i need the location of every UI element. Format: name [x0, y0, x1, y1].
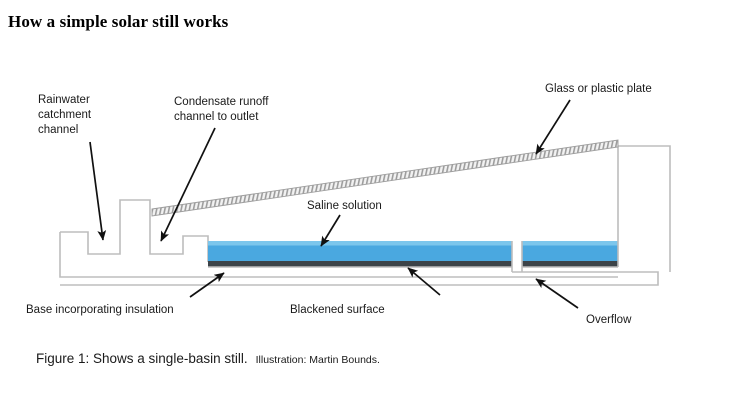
label-overflow: Overflow: [586, 313, 631, 328]
arrow-blackened-surface: [408, 268, 440, 295]
arrow-condensate-runoff-channel: [161, 128, 215, 241]
label-condensate-runoff-channel: Condensate runoff channel to outlet: [174, 95, 268, 125]
label-saline-solution: Saline solution: [307, 199, 382, 214]
glass-or-plastic-plate: [152, 140, 618, 216]
label-blackened-surface: Blackened surface: [290, 303, 385, 318]
blackened-surface: [208, 261, 618, 267]
saline-solution-water: [208, 241, 618, 261]
label-rainwater-catchment-channel: Rainwater catchment channel: [38, 93, 91, 138]
caption-credit-text: Illustration: Martin Bounds.: [256, 354, 380, 366]
arrow-overflow: [536, 279, 578, 308]
figure-page: How a simple solar still works: [0, 0, 730, 405]
caption-main-text: Figure 1: Shows a single-basin still.: [36, 351, 248, 366]
arrow-rainwater-catchment-channel: [90, 142, 103, 240]
figure-caption: Figure 1: Shows a single-basin still.Ill…: [36, 350, 380, 368]
label-glass-or-plastic-plate: Glass or plastic plate: [545, 82, 652, 97]
label-base-incorporating-insulation: Base incorporating insulation: [26, 303, 174, 318]
right-outer-wall: [618, 146, 670, 272]
arrow-glass-or-plastic-plate: [536, 100, 570, 154]
